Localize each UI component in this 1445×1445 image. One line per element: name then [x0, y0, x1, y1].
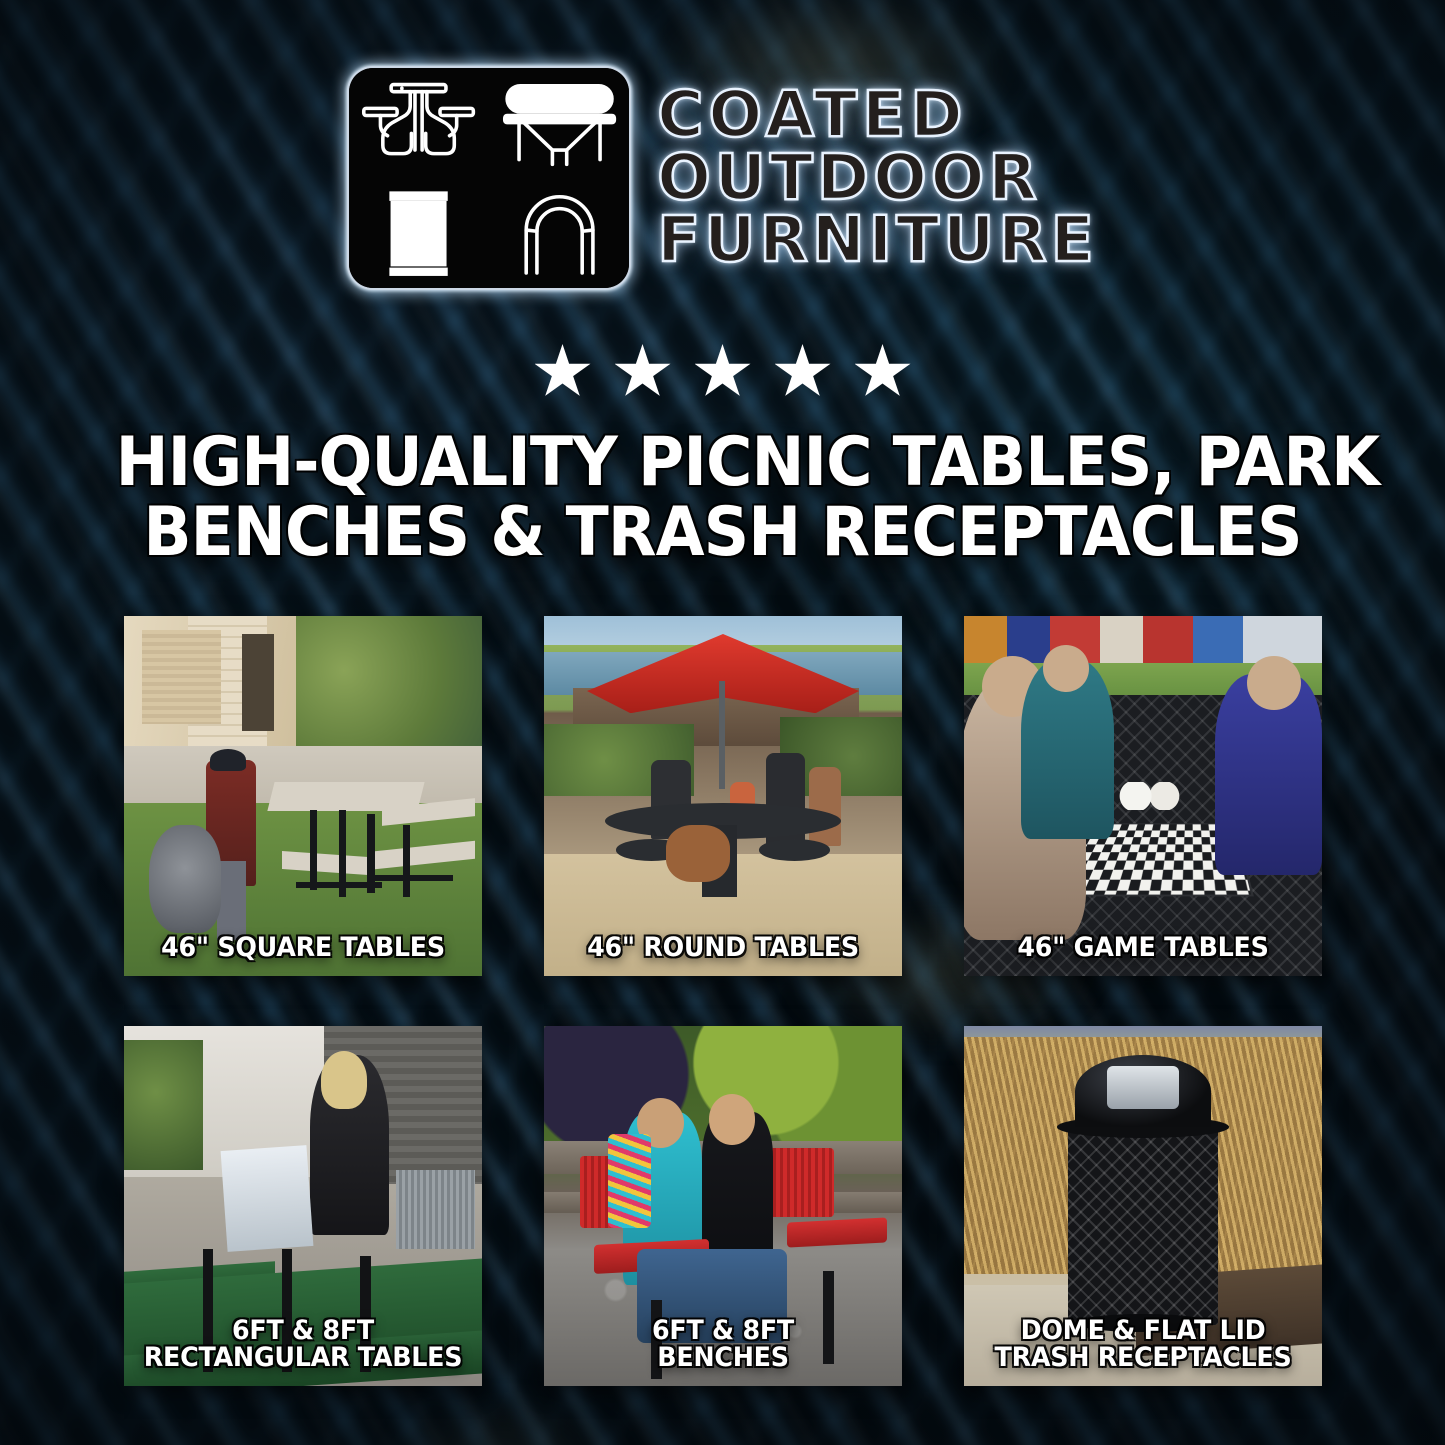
star-rating: [0, 336, 1445, 408]
promo-banner: COATED OUTDOOR FURNITURE HIGH-QUALITY PI…: [0, 0, 1445, 1445]
product-grid: 46" SQUARE TABLES: [124, 616, 1322, 1386]
caption-line-2: BENCHES: [555, 1344, 892, 1372]
caption-line-2: TRASH RECEPTACLES: [975, 1344, 1312, 1372]
headline-line-2: BENCHES & TRASH RECEPTACLES: [116, 498, 1330, 568]
star-icon: [535, 344, 591, 400]
product-caption: 46" ROUND TABLES: [555, 934, 892, 962]
product-tile-round-tables[interactable]: 46" ROUND TABLES: [544, 616, 902, 976]
caption-line-2: RECTANGULAR TABLES: [135, 1344, 472, 1372]
caption-line-1: 46" ROUND TABLES: [555, 934, 892, 962]
product-photo: [124, 616, 482, 976]
wordmark-line-3: FURNITURE: [657, 210, 1098, 270]
wordmark-line-2: OUTDOOR: [657, 148, 1041, 208]
product-caption: 6FT & 8FT RECTANGULAR TABLES: [135, 1317, 472, 1372]
brand-logo-mark: [347, 66, 631, 290]
star-icon: [775, 344, 831, 400]
flat-lid-receptacle-icon: [349, 180, 488, 289]
product-caption: 46" SQUARE TABLES: [135, 934, 472, 962]
product-tile-benches[interactable]: 6FT & 8FT BENCHES: [544, 1026, 902, 1386]
product-caption: 46" GAME TABLES: [975, 934, 1312, 962]
product-tile-game-tables[interactable]: 46" GAME TABLES: [964, 616, 1322, 976]
product-tile-trash-receptacles[interactable]: DOME & FLAT LID TRASH RECEPTACLES: [964, 1026, 1322, 1386]
caption-line-1: 6FT & 8FT: [555, 1317, 892, 1345]
picnic-table-icon: [349, 68, 488, 177]
wordmark-line-1: COATED: [657, 85, 967, 145]
brand-header: COATED OUTDOOR FURNITURE: [0, 60, 1445, 296]
caption-line-1: 46" SQUARE TABLES: [135, 934, 472, 962]
caption-line-1: DOME & FLAT LID: [975, 1317, 1312, 1345]
product-caption: DOME & FLAT LID TRASH RECEPTACLES: [975, 1317, 1312, 1372]
brand-wordmark: COATED OUTDOOR FURNITURE: [657, 85, 1098, 270]
star-icon: [615, 344, 671, 400]
star-icon: [695, 344, 751, 400]
product-tile-rectangular-tables[interactable]: 6FT & 8FT RECTANGULAR TABLES: [124, 1026, 482, 1386]
bench-side-icon: [491, 68, 630, 177]
product-photo: [964, 616, 1322, 976]
product-caption: 6FT & 8FT BENCHES: [555, 1317, 892, 1372]
product-tile-square-tables[interactable]: 46" SQUARE TABLES: [124, 616, 482, 976]
caption-line-1: 6FT & 8FT: [135, 1317, 472, 1345]
caption-line-1: 46" GAME TABLES: [975, 934, 1312, 962]
page-title: HIGH-QUALITY PICNIC TABLES, PARK BENCHES…: [116, 428, 1330, 568]
product-photo: [544, 616, 902, 976]
headline-line-1: HIGH-QUALITY PICNIC TABLES, PARK: [116, 428, 1330, 498]
dome-lid-receptacle-icon: [491, 180, 630, 289]
star-icon: [855, 344, 911, 400]
